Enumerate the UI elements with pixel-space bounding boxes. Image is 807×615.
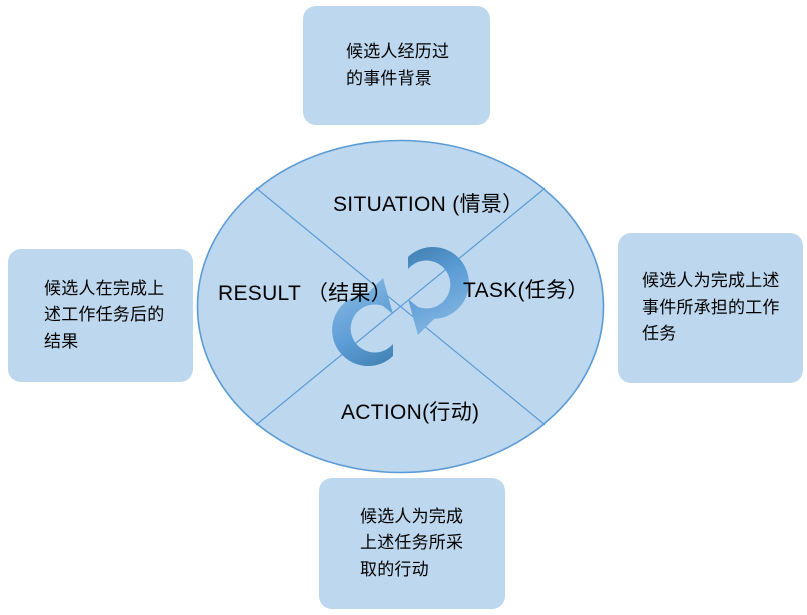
callout-text-situation: 候选人经历过的事件背景 xyxy=(346,39,462,92)
callout-text-task: 候选人为完成上述事件所承担的工作任务 xyxy=(642,268,787,347)
quadrant-label-situation: SITUATION (情景） xyxy=(333,188,523,218)
quadrant-label-task: TASK(任务） xyxy=(463,274,589,304)
callout-box-action[interactable]: 候选人为完成上述任务所采取的行动 xyxy=(319,478,505,609)
callout-box-situation[interactable]: 候选人经历过的事件背景 xyxy=(303,6,490,125)
quadrant-label-action: ACTION(行动) xyxy=(341,396,479,426)
callout-text-result: 候选人在完成上述工作任务后的结果 xyxy=(44,276,173,355)
quadrant-label-result: RESULT （结果） xyxy=(218,277,392,307)
callout-text-action: 候选人为完成上述任务所采取的行动 xyxy=(360,504,477,583)
callout-box-result[interactable]: 候选人在完成上述工作任务后的结果 xyxy=(8,249,193,382)
callout-box-task[interactable]: 候选人为完成上述事件所承担的工作任务 xyxy=(618,233,803,383)
diagram-canvas: 候选人经历过的事件背景 候选人为完成上述事件所承担的工作任务 候选人为完成上述任… xyxy=(0,0,807,615)
